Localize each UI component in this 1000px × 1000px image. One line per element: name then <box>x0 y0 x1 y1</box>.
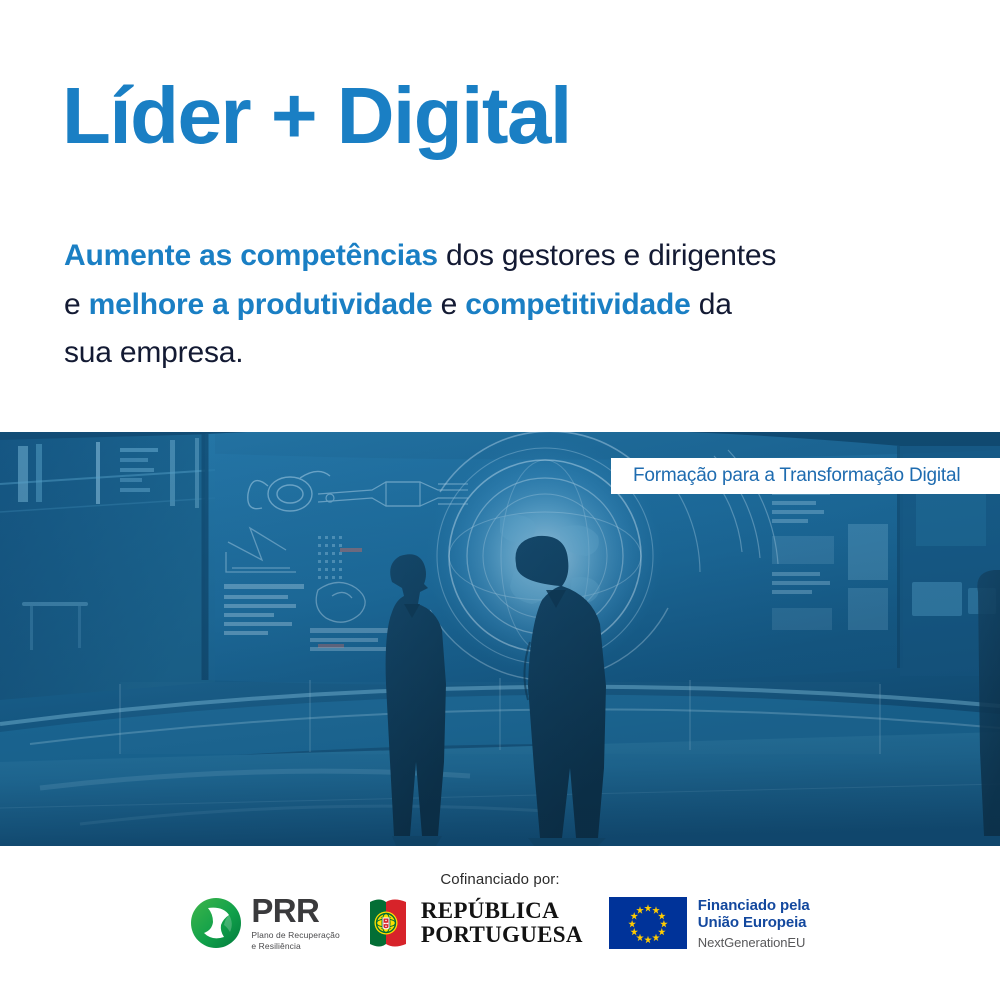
rp-line-2: PORTUGUESA <box>421 923 583 947</box>
rp-line-1: REPÚBLICA <box>421 899 583 923</box>
portuguese-flag-icon <box>366 897 410 949</box>
cofinanced-label: Cofinanciado por: <box>0 871 1000 888</box>
eu-line-1: Financiado pela <box>698 897 810 914</box>
hero-illustration <box>0 432 1000 846</box>
subtitle-text-5: sua empresa. <box>64 336 243 369</box>
eu-text-block: Financiado pela União Europeia NextGener… <box>698 897 810 950</box>
prr-green-swirl-icon <box>190 897 242 949</box>
subtitle-highlight-competencias: Aumente as competências <box>64 239 438 272</box>
tagline-banner: Formação para a Transformação Digital <box>611 458 1000 494</box>
subtitle-text-4: da <box>691 288 732 321</box>
page-title: Líder + Digital <box>62 76 571 156</box>
eu-nextgeneration-label: NextGenerationEU <box>698 935 810 950</box>
subtitle-text-2: e <box>64 288 89 321</box>
logo-european-union: Financiado pela União Europeia NextGener… <box>609 897 810 950</box>
logo-republica-portuguesa: REPÚBLICA PORTUGUESA <box>366 897 583 949</box>
header-block: Líder + Digital Aumente as competências … <box>0 0 1000 432</box>
funding-logos-row: PRR Plano de Recuperação e Resiliência <box>0 894 1000 952</box>
logo-prr: PRR Plano de Recuperação e Resiliência <box>190 894 339 952</box>
subtitle-highlight-competitividade: competitividade <box>465 288 690 321</box>
prr-acronym: PRR <box>251 894 339 927</box>
prr-subtitle-line1: Plano de Recuperação <box>251 930 339 940</box>
rp-text-block: REPÚBLICA PORTUGUESA <box>421 899 583 948</box>
tagline-text: Formação para a Transformação Digital <box>633 465 960 487</box>
prr-subtitle-line2: e Resiliência <box>251 941 301 951</box>
eu-line-2: União Europeia <box>698 914 810 931</box>
eu-flag-icon <box>609 897 687 949</box>
hero-image <box>0 432 1000 846</box>
poster-root: Líder + Digital Aumente as competências … <box>0 0 1000 1000</box>
footer: Cofinanciado por: <box>0 846 1000 1000</box>
prr-subtitle: Plano de Recuperação e Resiliência <box>251 930 339 952</box>
prr-text-block: PRR Plano de Recuperação e Resiliência <box>251 894 339 952</box>
subtitle-highlight-produtividade: melhore a produtividade <box>89 288 433 321</box>
subtitle-text-3: e <box>432 288 465 321</box>
subtitle-paragraph: Aumente as competências dos gestores e d… <box>64 232 964 378</box>
subtitle-text-1: dos gestores e dirigentes <box>438 239 776 272</box>
